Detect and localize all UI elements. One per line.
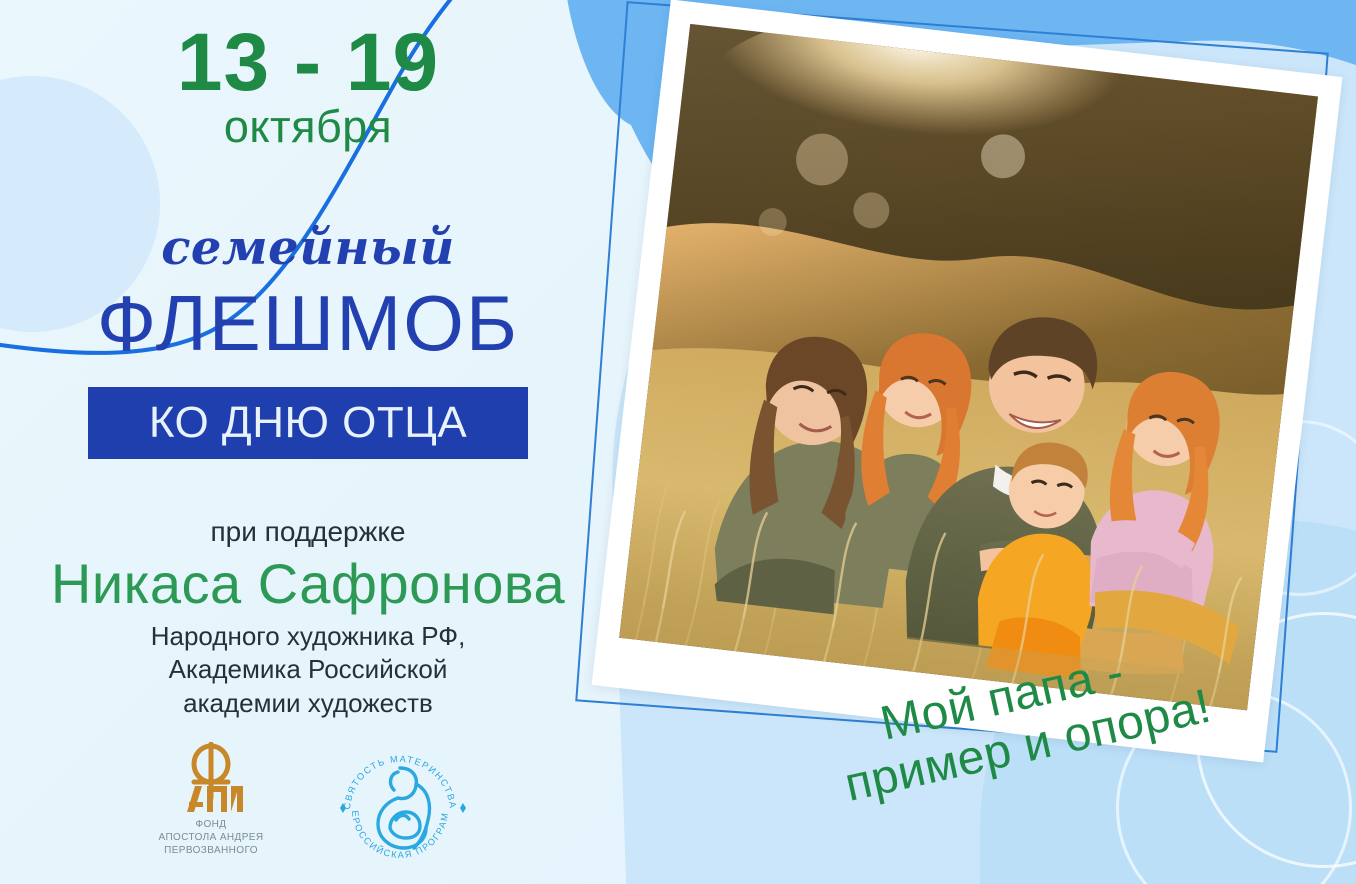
faap-monogram-icon [169,742,253,816]
event-date-range: 13 - 19 [0,22,616,104]
logo-fond-apostola-andreya: ФОНД АПОСТОЛА АНДРЕЯ ПЕРВОЗВАННОГО [141,742,281,857]
title-kicker: семейный [0,224,616,272]
family-photo-illustration [619,24,1318,711]
family-photo [619,24,1318,711]
partner-logos: ФОНД АПОСТОЛА АНДРЕЯ ПЕРВОЗВАННОГО СВЯТО… [0,742,616,874]
faap-line-1: ФОНД [141,819,281,832]
faap-logo-text: ФОНД АПОСТОЛА АНДРЕЯ ПЕРВОЗВАННОГО [141,819,281,857]
status-badge-label: КО ДНЮ ОТЦА [149,401,467,445]
artist-titles: Народного художника РФ, Академика Россий… [0,620,616,720]
page-title: ФЛЕШМОБ [0,284,616,362]
status-badge: КО ДНЮ ОТЦА [88,387,528,459]
artist-title-line-1: Народного художника РФ, [0,620,616,653]
support-label: при поддержке [0,518,616,546]
poster-canvas: 13 - 19 октября семейный ФЛЕШМОБ КО ДНЮ … [0,0,1356,884]
faap-line-2: АПОСТОЛА АНДРЕЯ [141,832,281,845]
artist-title-line-3: академии художеств [0,687,616,720]
emblem-arc-top: СВЯТОСТЬ МАТЕРИНСТВА [342,754,458,810]
left-content-column: 13 - 19 октября семейный ФЛЕШМОБ КО ДНЮ … [0,0,616,884]
logo-svyatost-materinstva: СВЯТОСТЬ МАТЕРИНСТВА ВСЕРОССИЙСКАЯ ПРОГР… [325,742,475,874]
motherhood-emblem-icon: СВЯТОСТЬ МАТЕРИНСТВА ВСЕРОССИЙСКАЯ ПРОГР… [334,742,466,874]
svg-text:СВЯТОСТЬ МАТЕРИНСТВА: СВЯТОСТЬ МАТЕРИНСТВА [342,754,458,810]
artist-name: Никаса Сафронова [0,556,616,612]
event-date-month: октября [0,104,616,149]
artist-title-line-2: Академика Российской [0,653,616,686]
faap-line-3: ПЕРВОЗВАННОГО [141,845,281,858]
